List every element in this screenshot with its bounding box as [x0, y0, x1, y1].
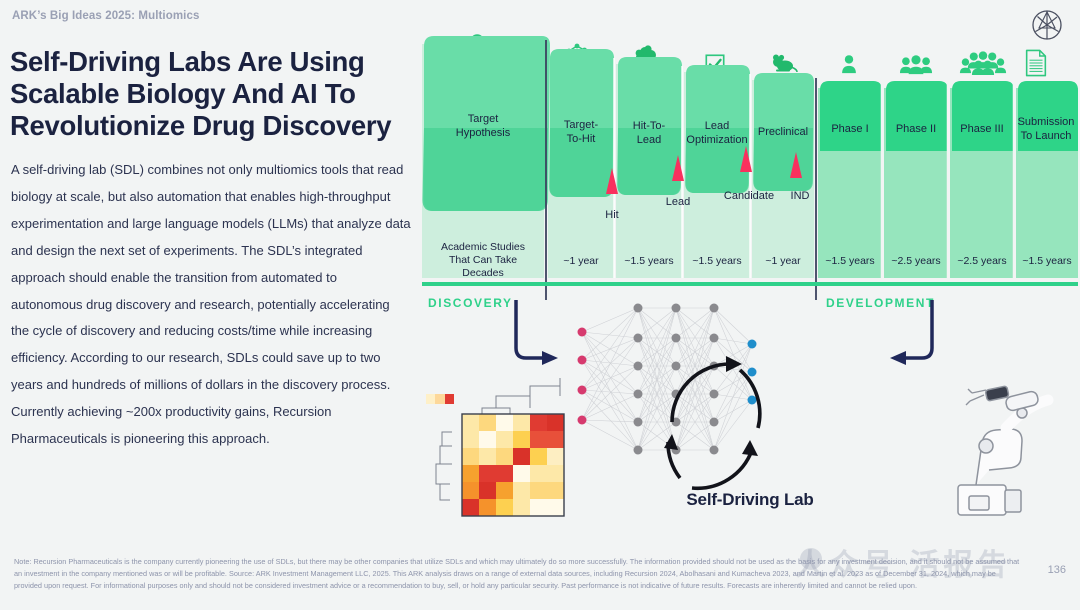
page-title: Self-Driving Labs Are Using Scalable Bio… — [10, 46, 420, 142]
duration-label: ~1.5 years — [1016, 255, 1078, 268]
funnel-chart: Target Hypothesis Target- To-Hit Hit-To-… — [420, 0, 1080, 330]
milestone-label: Hit — [586, 209, 638, 221]
eyebrow-label: ARK’s Big Ideas 2025: Multiomics — [12, 10, 199, 22]
slide: ARK’s Big Ideas 2025: Multiomics Self-Dr… — [0, 0, 1080, 610]
milestone-label: IND — [772, 190, 828, 202]
duration-label: Academic Studies That Can Take Decades — [422, 241, 544, 280]
arrow-into-cycle — [516, 300, 544, 358]
page-number: 136 — [1048, 564, 1066, 576]
duration-label: ~1.5 years — [818, 255, 882, 268]
milestone-label: Lead — [652, 196, 704, 208]
duration-label: ~1 year — [548, 255, 614, 268]
duration-label: ~2.5 years — [884, 255, 948, 268]
sdl-caption: Self-Driving Lab — [420, 490, 1080, 510]
duration-label: ~1.5 years — [684, 255, 750, 268]
footnote: Note: Recursion Pharmaceuticals is the c… — [14, 556, 1024, 592]
arrow-out-of-cycle — [904, 300, 932, 358]
duration-label: ~1 year — [752, 255, 814, 268]
duration-label: ~2.5 years — [950, 255, 1014, 268]
arrow-out-of-cycle-head — [890, 351, 906, 365]
duration-label: ~1.5 years — [616, 255, 682, 268]
body-paragraph: A self-driving lab (SDL) combines not on… — [11, 157, 411, 453]
neural-network-icon — [578, 304, 757, 455]
arrow-into-cycle-head — [542, 351, 558, 365]
